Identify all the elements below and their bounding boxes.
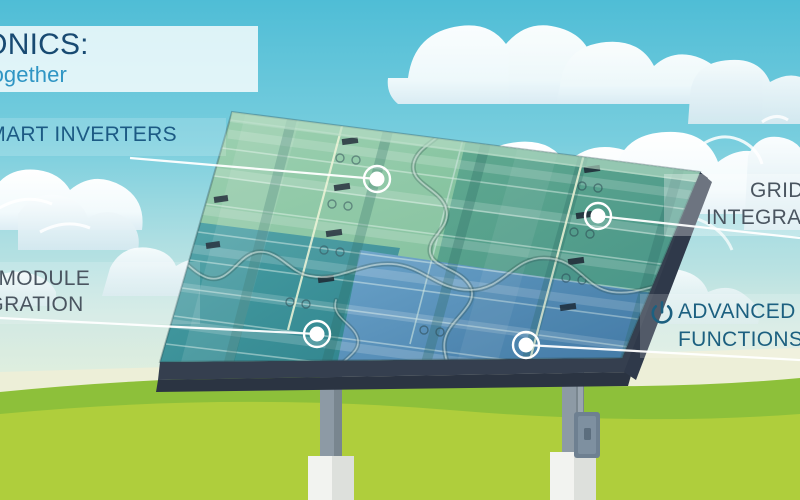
callout-label-grid-integration-line1[interactable]: GRID <box>750 180 800 202</box>
callout-label-pv-module-line1[interactable]: V MODULE <box>0 268 90 290</box>
power-icon <box>649 300 675 326</box>
page-subtitle: the Pieces Fit Together <box>0 63 67 86</box>
callout-label-grid-integration-line2[interactable]: INTEGRA <box>706 207 800 229</box>
callout-label-smart-inverters[interactable]: SMART INVERTERS <box>0 124 177 146</box>
page-title: ER ELECTRONICS: <box>0 29 89 61</box>
callout-label-advanced-functions-line2[interactable]: FUNCTIONS <box>678 329 800 351</box>
callout-label-advanced-functions-line1[interactable]: ADVANCED <box>678 301 796 323</box>
infographic-canvas: ER ELECTRONICS: the Pieces Fit Together … <box>0 0 800 500</box>
callout-label-pv-module-line2[interactable]: TEGRATION <box>0 294 84 316</box>
